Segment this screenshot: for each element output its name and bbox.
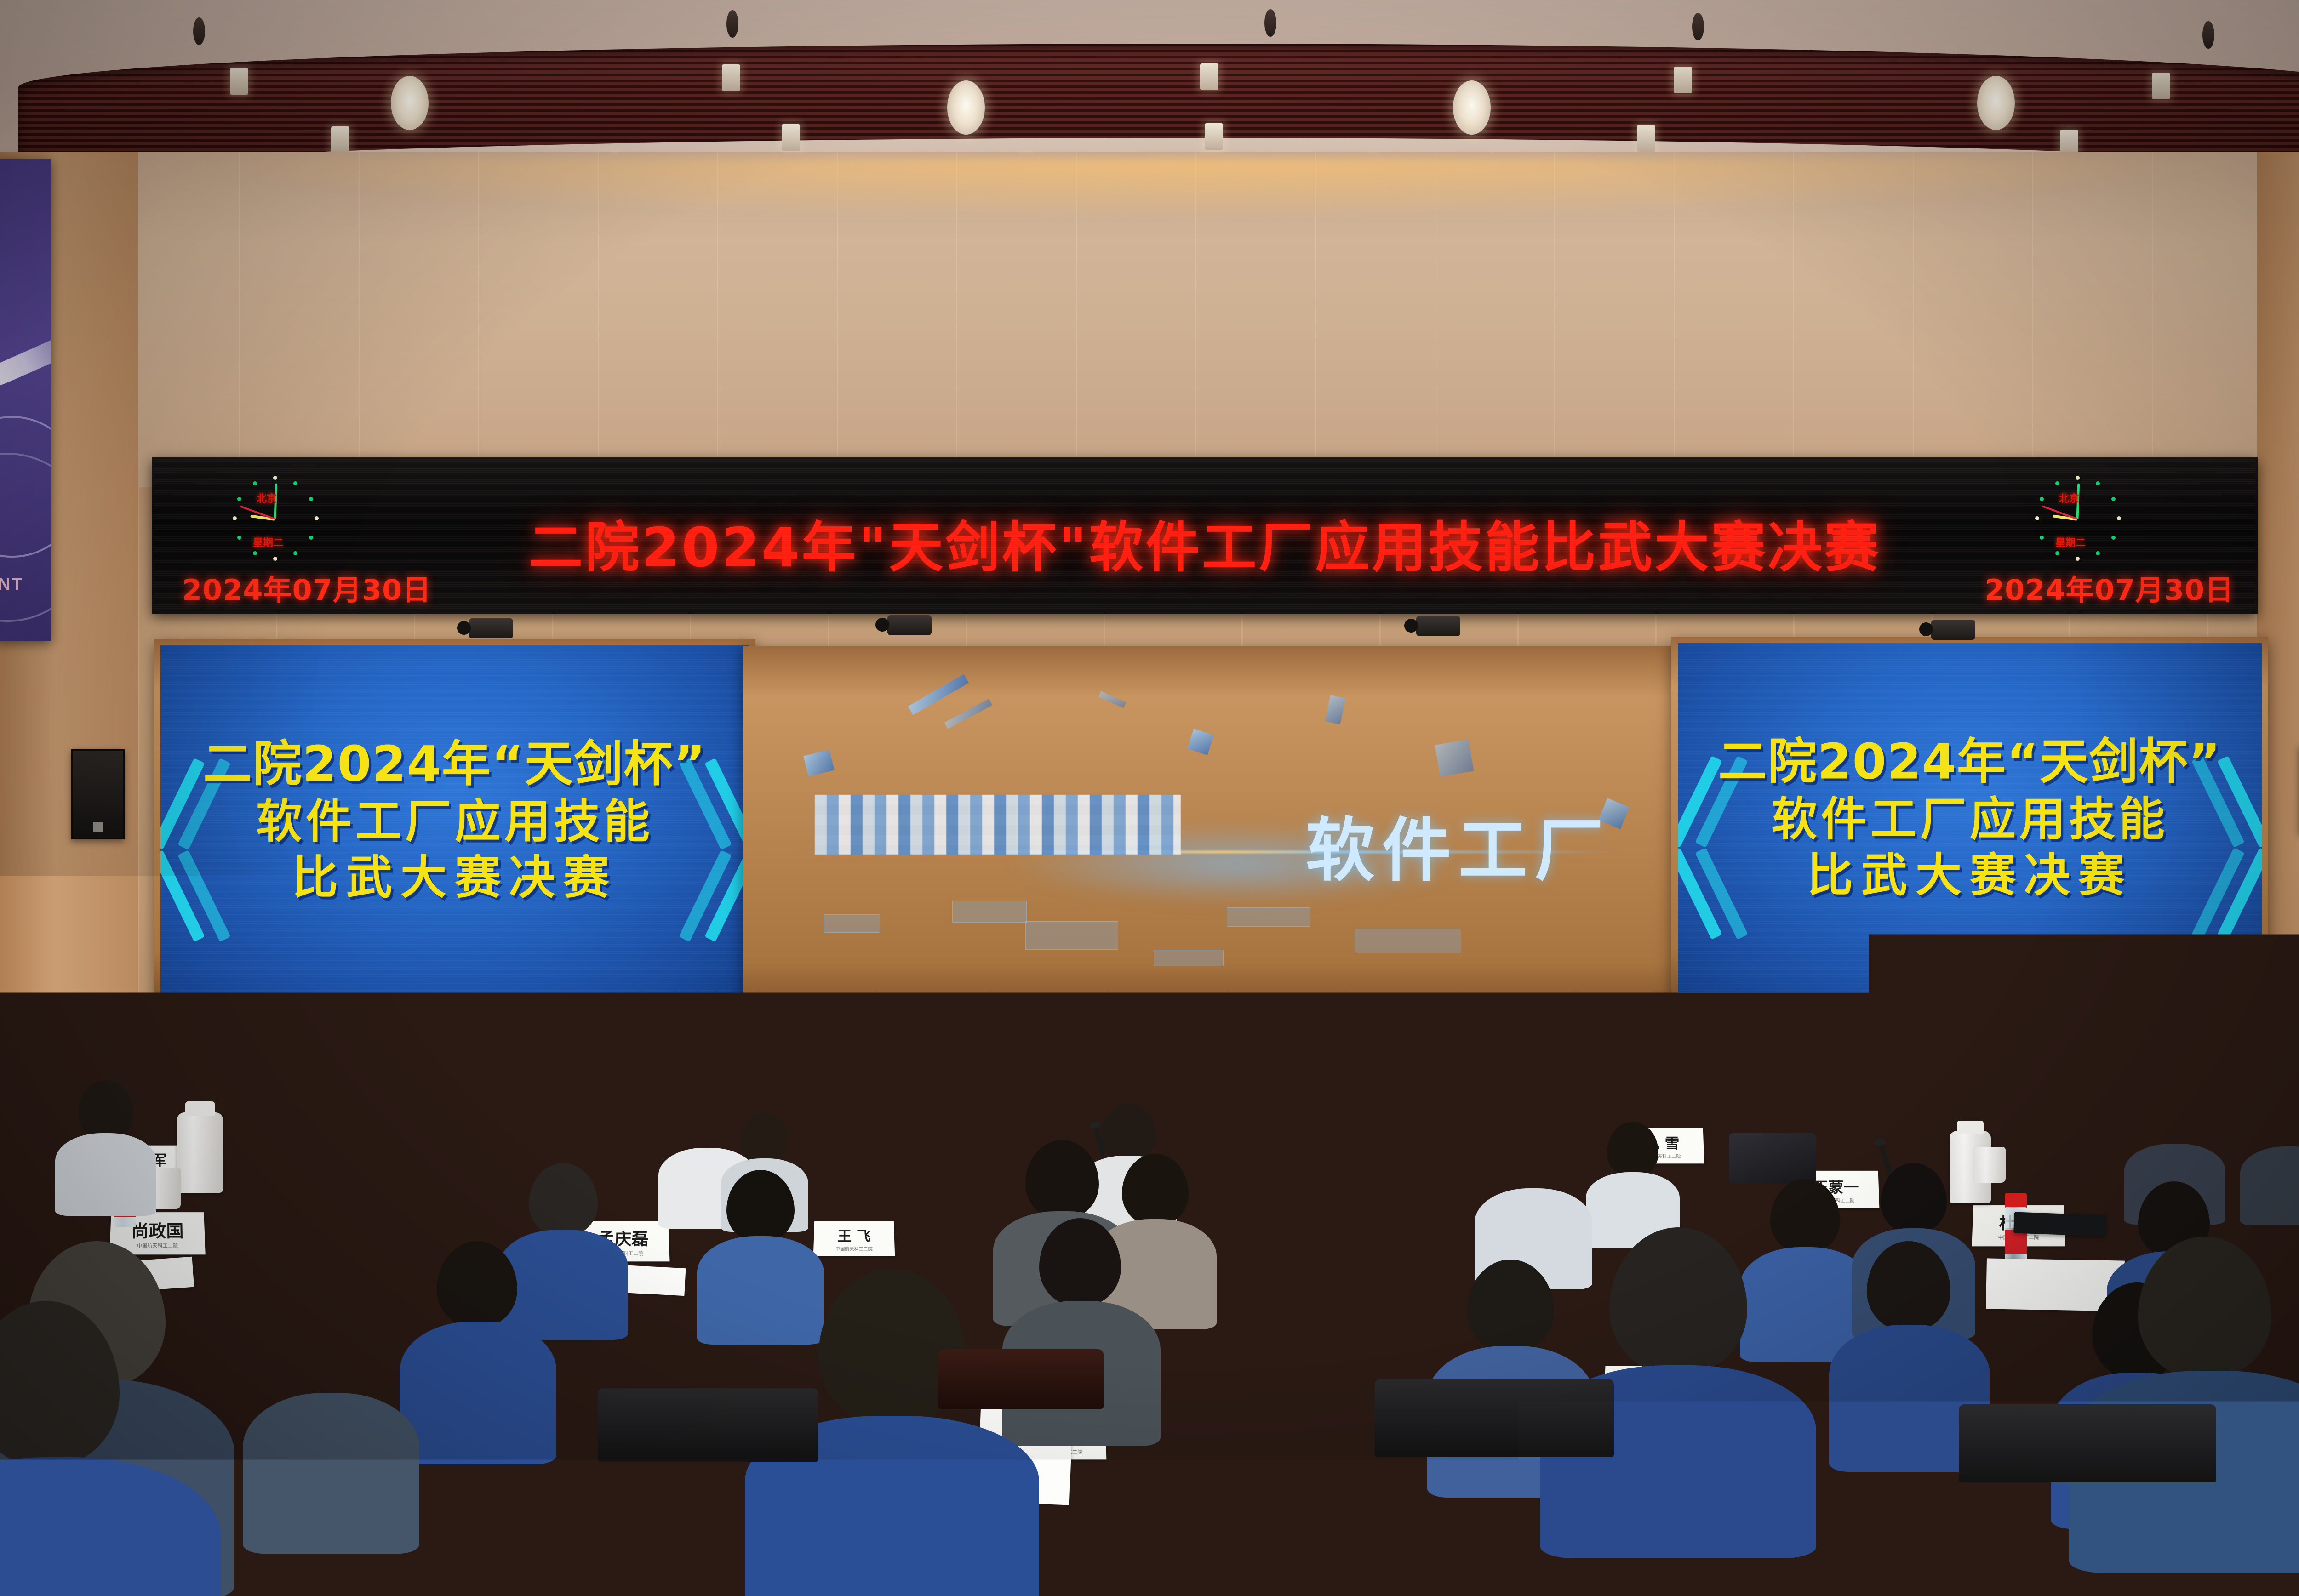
thermos-flask <box>469 1122 511 1195</box>
name-card: 王 飞 中国航天科工二院 <box>813 1221 895 1256</box>
tea-mug <box>1973 1147 2006 1183</box>
stage-camera <box>1931 620 1975 640</box>
clock-minute-hand <box>2076 483 2080 519</box>
decor-block <box>1355 929 1461 953</box>
ceiling-light-slot <box>722 64 740 91</box>
decor-shard <box>908 674 969 715</box>
right-screen-line-3: 比武大赛决赛 <box>1678 848 2262 904</box>
decor-shard <box>1187 729 1214 755</box>
ceiling-light-slot <box>1205 123 1223 150</box>
ceiling-light-slot <box>1637 125 1655 152</box>
left-screen-frame: 二院2024年“天剑杯” 软件工厂应用技能 比武大赛决赛 <box>154 639 755 1001</box>
right-projection-screen: 二院2024年“天剑杯” 软件工厂应用技能 比武大赛决赛 <box>1678 643 2262 992</box>
ceiling-downlight <box>1453 80 1491 135</box>
name-card-name: 王 飞 <box>837 1225 871 1245</box>
stage-camera <box>469 618 513 638</box>
name-card-org: 中国航天科工二院 <box>137 1242 178 1249</box>
wall-speaker <box>71 749 125 839</box>
laptop-closed[interactable] <box>2013 1212 2106 1237</box>
aerospace-emblem-icon <box>189 1047 225 1090</box>
left-screen-line-3: 比武大赛决赛 <box>160 850 749 906</box>
clock-face <box>2037 478 2118 559</box>
thermos-flask <box>860 1129 900 1200</box>
clock-hour-hand <box>250 515 275 521</box>
decor-block <box>1025 921 1118 950</box>
thermos-flask <box>177 1112 223 1193</box>
ceiling-speaker <box>1692 13 1704 40</box>
decor-shard <box>804 750 835 777</box>
laptop-bag <box>1729 1133 1816 1184</box>
ceiling-speaker <box>726 10 738 38</box>
clock-hour-hand <box>2053 515 2077 521</box>
desk-monitor-line-1: 二院2024年“天剑杯” <box>1185 1076 1244 1093</box>
decor-block <box>1227 907 1310 927</box>
left-screen-line-1: 二院2024年“天剑杯” <box>160 734 749 793</box>
ceiling-light-slot <box>1674 67 1692 93</box>
clock-weekday-label: 星期二 <box>253 535 283 549</box>
led-left-clock: 北京 星期二 2024年07月30日 <box>161 467 446 609</box>
clock-date: 2024年07月30日 <box>182 567 431 608</box>
decor-shard <box>1098 691 1127 708</box>
decor-shard <box>944 699 993 730</box>
paper-sheet <box>1171 1405 1289 1492</box>
ceiling-downlight <box>1977 76 2015 130</box>
center-led-display: 软件工厂 <box>751 654 1666 1006</box>
ceiling-downlight <box>391 76 429 130</box>
stage-camera <box>1416 616 1460 636</box>
right-screen-text-block: 二院2024年“天剑杯” 软件工厂应用技能 比武大赛决赛 <box>1678 732 2262 903</box>
decor-block <box>824 914 880 933</box>
ceiling-speaker <box>1264 9 1276 37</box>
right-screen-frame: 二院2024年“天剑杯” 软件工厂应用技能 比武大赛决赛 <box>1671 637 2268 999</box>
clock-minute-hand <box>274 483 278 519</box>
left-wall-poster: NT <box>0 159 51 641</box>
right-screen-line-1: 二院2024年“天剑杯” <box>1678 732 2262 791</box>
clock-date: 2024年07月30日 <box>1984 567 2234 608</box>
center-screen-frame: 软件工厂 <box>743 646 1674 1014</box>
desk-monitor-line-3: 比武大赛决赛 <box>1194 1101 1235 1110</box>
desk-monitor-screen: 二院2024年“天剑杯” 软件工厂应用技能 比武大赛决赛 <box>1185 1070 1244 1116</box>
decor-shard <box>1435 739 1474 777</box>
led-banner-title: 二院2024年"天剑杯"软件工厂应用技能比武大赛决赛 <box>152 503 2258 582</box>
left-screen-text-block: 二院2024年“天剑杯” 软件工厂应用技能 比武大赛决赛 <box>160 734 749 906</box>
led-right-clock: 北京 星期二 2024年07月30日 <box>1963 467 2248 609</box>
ceiling-light-slot <box>331 126 349 153</box>
ceiling-downlight <box>947 80 985 135</box>
name-card-name: 尚政国 <box>131 1217 184 1242</box>
clock-second-hand <box>2042 505 2077 520</box>
decor-shard <box>1325 695 1345 724</box>
ceiling-light-slot <box>782 124 800 151</box>
chair-back <box>1375 1379 1614 1457</box>
ceiling-light-slot <box>230 68 248 95</box>
led-banner: 二院2024年"天剑杯"软件工厂应用技能比武大赛决赛 北京 <box>152 457 2258 614</box>
left-projection-screen: 二院2024年“天剑杯” 软件工厂应用技能 比武大赛决赛 <box>160 645 749 995</box>
chair-back <box>938 1349 1104 1409</box>
clock-face <box>234 478 315 559</box>
clock-weekday-label: 星期二 <box>2055 535 2086 549</box>
clock-second-hand <box>239 505 275 520</box>
desk-monitor-line-2: 软件工厂应用技能 <box>1187 1093 1242 1101</box>
name-card-org: 中国航天科工二院 <box>835 1245 873 1252</box>
ceiling-speaker <box>2202 21 2214 49</box>
left-poster-en-text: NT <box>0 575 24 594</box>
decor-block <box>1154 950 1224 966</box>
clock-city-label: 北京 <box>2059 490 2079 505</box>
decor-block <box>952 901 1027 923</box>
ceiling-light-slot <box>2152 73 2170 99</box>
mosaic-censored-region <box>815 795 1181 855</box>
thermos-flask <box>1214 1140 1253 1209</box>
desk-monitor-stand <box>1207 1112 1215 1149</box>
tea-mug <box>828 1163 864 1201</box>
desk-monitor[interactable]: 二院2024年“天剑杯” 软件工厂应用技能 比武大赛决赛 <box>1182 1066 1247 1119</box>
clock-city-label: 北京 <box>257 490 277 505</box>
ceiling-speaker <box>193 17 205 45</box>
ceiling-light-slot <box>1200 63 1218 90</box>
chair-back <box>1959 1404 2216 1482</box>
cove-light-glow <box>152 159 2248 218</box>
center-screen-headline: 软件工厂 <box>1306 795 1611 895</box>
auditorium-photo: NT 总体 THE OVE 二院2024年"天剑杯"软件工厂应用技能比武大赛决赛 <box>0 0 2299 1596</box>
left-screen-line-2: 软件工厂应用技能 <box>160 794 749 850</box>
chair-back <box>598 1388 818 1462</box>
stage-camera <box>887 615 932 635</box>
right-screen-line-2: 软件工厂应用技能 <box>1678 792 2262 848</box>
